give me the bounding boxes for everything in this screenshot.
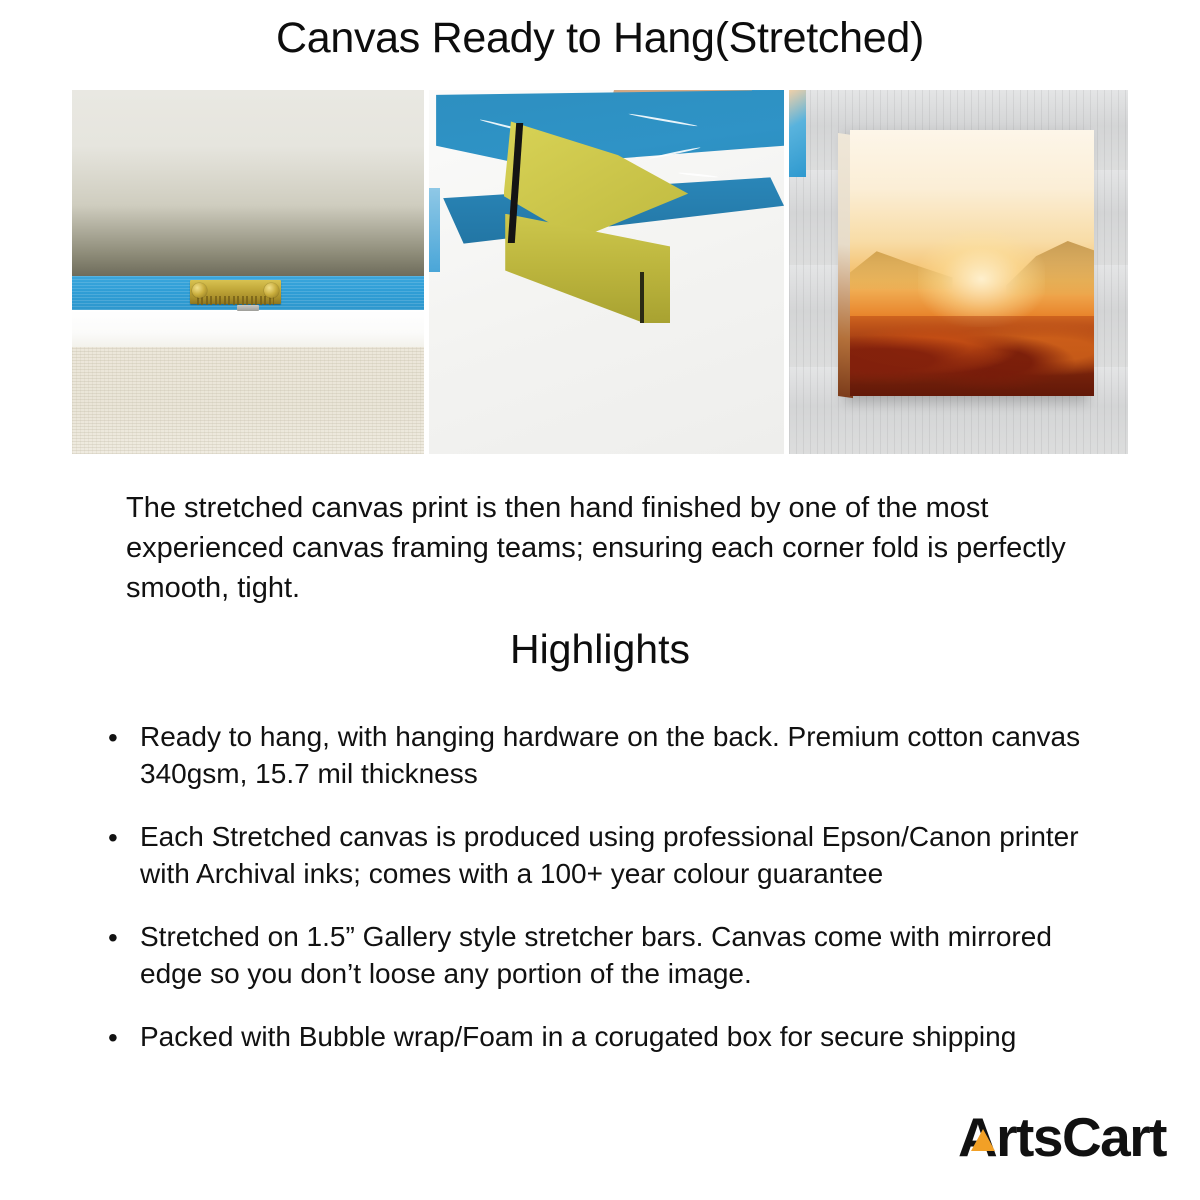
canvas-white-gap bbox=[72, 310, 424, 346]
list-item: • Stretched on 1.5” Gallery style stretc… bbox=[104, 918, 1114, 992]
bullet-marker-icon: • bbox=[108, 819, 118, 856]
canvas-back-upper-surface bbox=[72, 90, 424, 276]
canvas-raw-cotton-surface bbox=[72, 347, 424, 454]
bullet-marker-icon: • bbox=[108, 719, 118, 756]
corner-photo-left-blue-patch bbox=[429, 188, 440, 272]
list-item-text: Each Stretched canvas is produced using … bbox=[140, 821, 1079, 889]
artwork-sun-glow bbox=[918, 231, 1045, 327]
artwork-foreground-foliage bbox=[850, 316, 1094, 396]
photo-canvas-back-hanging-hardware bbox=[72, 90, 424, 454]
list-item: • Each Stretched canvas is produced usin… bbox=[104, 818, 1114, 892]
bullet-marker-icon: • bbox=[108, 919, 118, 956]
photo-canvas-hung-on-wall bbox=[789, 90, 1128, 454]
list-item: • Ready to hang, with hanging hardware o… bbox=[104, 718, 1114, 792]
bullet-marker-icon: • bbox=[108, 1019, 118, 1056]
list-item-text: Packed with Bubble wrap/Foam in a coruga… bbox=[140, 1021, 1016, 1052]
logo-triangle-icon bbox=[971, 1129, 995, 1151]
hanger-bracket-tab bbox=[237, 305, 259, 311]
hanger-screw-right-icon bbox=[264, 283, 279, 298]
corner-fold-seam-lower bbox=[640, 272, 644, 323]
product-image-strip bbox=[72, 90, 1128, 454]
list-item: • Packed with Bubble wrap/Foam in a coru… bbox=[104, 1018, 1114, 1055]
page-title: Canvas Ready to Hang(Stretched) bbox=[0, 14, 1200, 63]
highlights-list: • Ready to hang, with hanging hardware o… bbox=[104, 718, 1114, 1081]
canvas-sunset-artwork bbox=[850, 130, 1094, 396]
list-item-text: Stretched on 1.5” Gallery style stretche… bbox=[140, 921, 1052, 989]
highlights-heading: Highlights bbox=[0, 626, 1200, 673]
lead-paragraph: The stretched canvas print is then hand … bbox=[126, 488, 1076, 608]
hung-canvas-print bbox=[850, 130, 1094, 396]
brand-logo: ArtsCart bbox=[958, 1106, 1166, 1168]
photo-canvas-corner-fold bbox=[429, 90, 784, 454]
list-item-text: Ready to hang, with hanging hardware on … bbox=[140, 721, 1080, 789]
hanger-screw-left-icon bbox=[192, 283, 207, 298]
adjacent-photo-bleed bbox=[789, 90, 806, 177]
sawtooth-hanger-icon bbox=[190, 280, 282, 304]
